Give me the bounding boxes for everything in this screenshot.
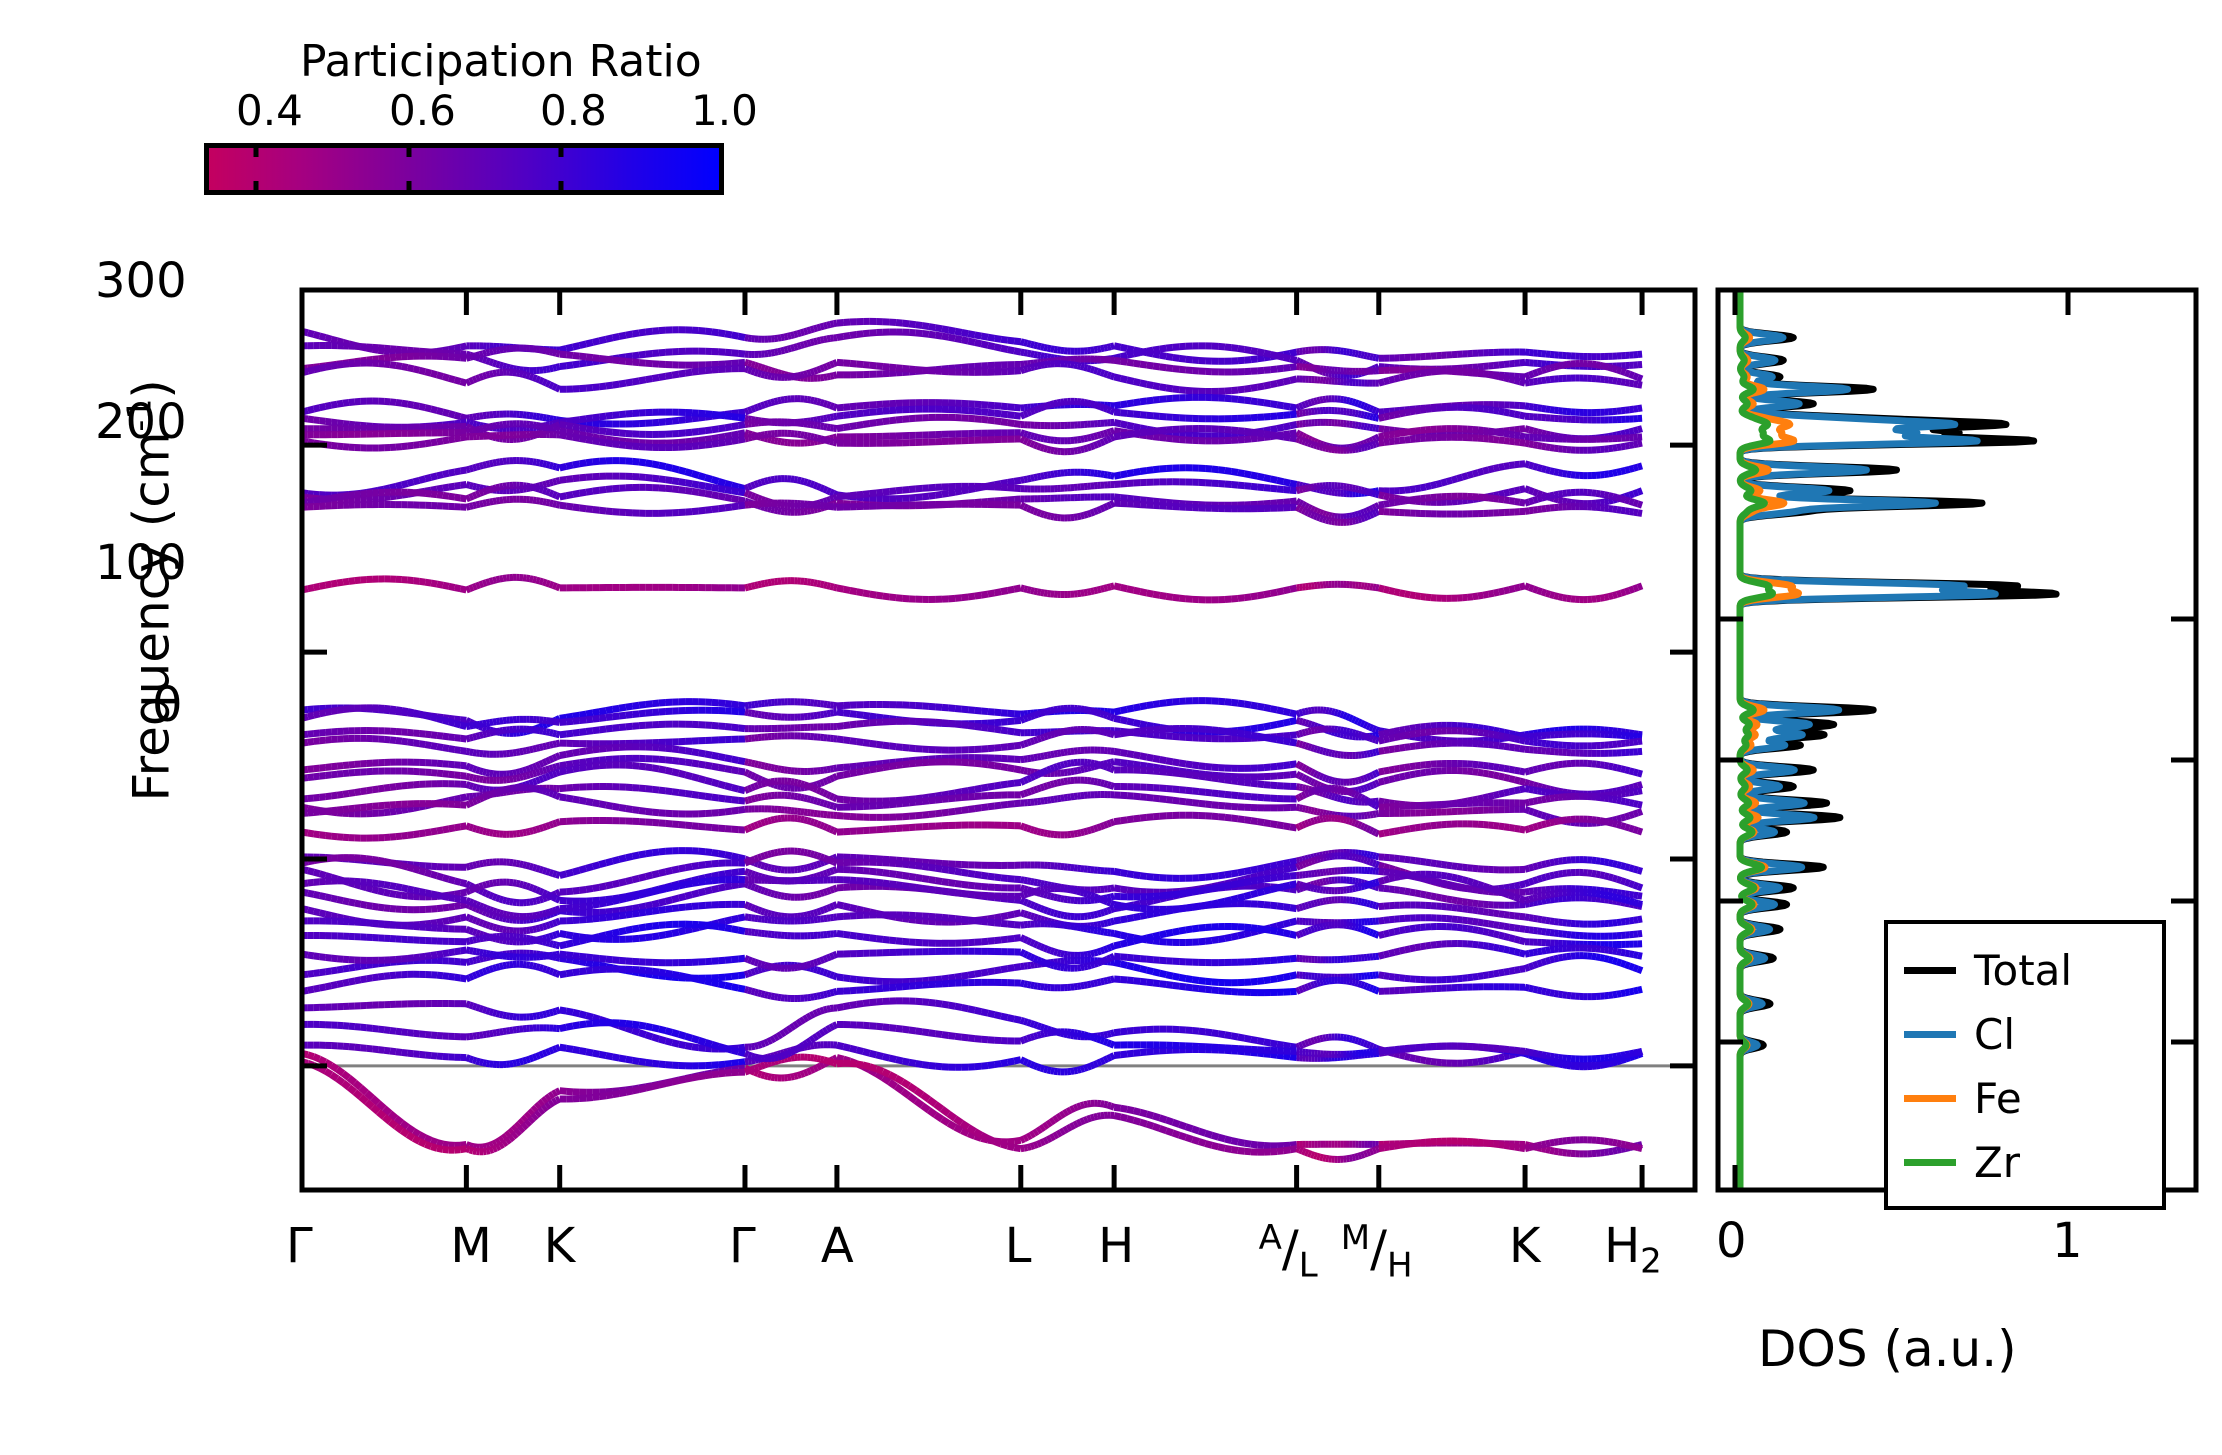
colorbar-tick-0: 0.4 <box>236 86 303 135</box>
legend-item-fe[interactable]: Fe <box>1904 1066 2162 1130</box>
x-tick-label-Γ: Γ <box>286 1218 313 1274</box>
legend-swatch-total <box>1904 967 1956 974</box>
colorbar-body <box>207 146 722 193</box>
y-tick-label-300: 300 <box>95 253 187 309</box>
band-structure-plot[interactable] <box>302 290 1695 1190</box>
dos-legend[interactable]: TotalClFeZr <box>1884 920 2166 1210</box>
x-tick-label-K: K <box>1509 1218 1540 1274</box>
colorbar-title: Participation Ratio <box>300 36 702 87</box>
x-tick-label-M-H: M/H <box>1341 1218 1413 1286</box>
x-tick-label-H2: H2 <box>1604 1218 1662 1282</box>
colorbar-gradient[interactable] <box>204 143 724 195</box>
x-tick-label-L: L <box>1005 1218 1032 1274</box>
x-tick-label-H: H <box>1098 1218 1134 1274</box>
legend-swatch-fe <box>1904 1095 1956 1102</box>
y-axis-label-text: Frequency (cm <box>122 432 180 802</box>
colorbar-tick-2: 0.8 <box>540 86 607 135</box>
x-tick-label-K: K <box>544 1218 575 1274</box>
x-tick-label-M: M <box>450 1218 491 1274</box>
colorbar-tick-1: 0.6 <box>389 86 456 135</box>
dos-tick-label-1: 1 <box>2052 1213 2083 1269</box>
legend-label-total: Total <box>1974 946 2072 995</box>
legend-label-fe: Fe <box>1974 1074 2022 1123</box>
y-tick-label-200: 200 <box>95 394 187 450</box>
colorbar-tick-3: 1.0 <box>691 86 758 135</box>
x-tick-label-Γ: Γ <box>729 1218 756 1274</box>
legend-swatch-cl <box>1904 1031 1956 1038</box>
legend-item-zr[interactable]: Zr <box>1904 1130 2162 1194</box>
legend-item-cl[interactable]: Cl <box>1904 1002 2162 1066</box>
y-tick-label-0: 0 <box>152 677 183 733</box>
legend-item-total[interactable]: Total <box>1904 938 2162 1002</box>
x-tick-label-A: A <box>821 1218 854 1274</box>
dos-axis-title: DOS (a.u.) <box>1758 1320 2017 1378</box>
dos-tick-label-0: 0 <box>1716 1213 1747 1269</box>
x-tick-label-A-L: A/L <box>1259 1218 1318 1286</box>
y-tick-label-100: 100 <box>95 535 187 591</box>
legend-label-cl: Cl <box>1974 1010 2015 1059</box>
legend-label-zr: Zr <box>1974 1138 2020 1187</box>
legend-swatch-zr <box>1904 1159 1956 1166</box>
